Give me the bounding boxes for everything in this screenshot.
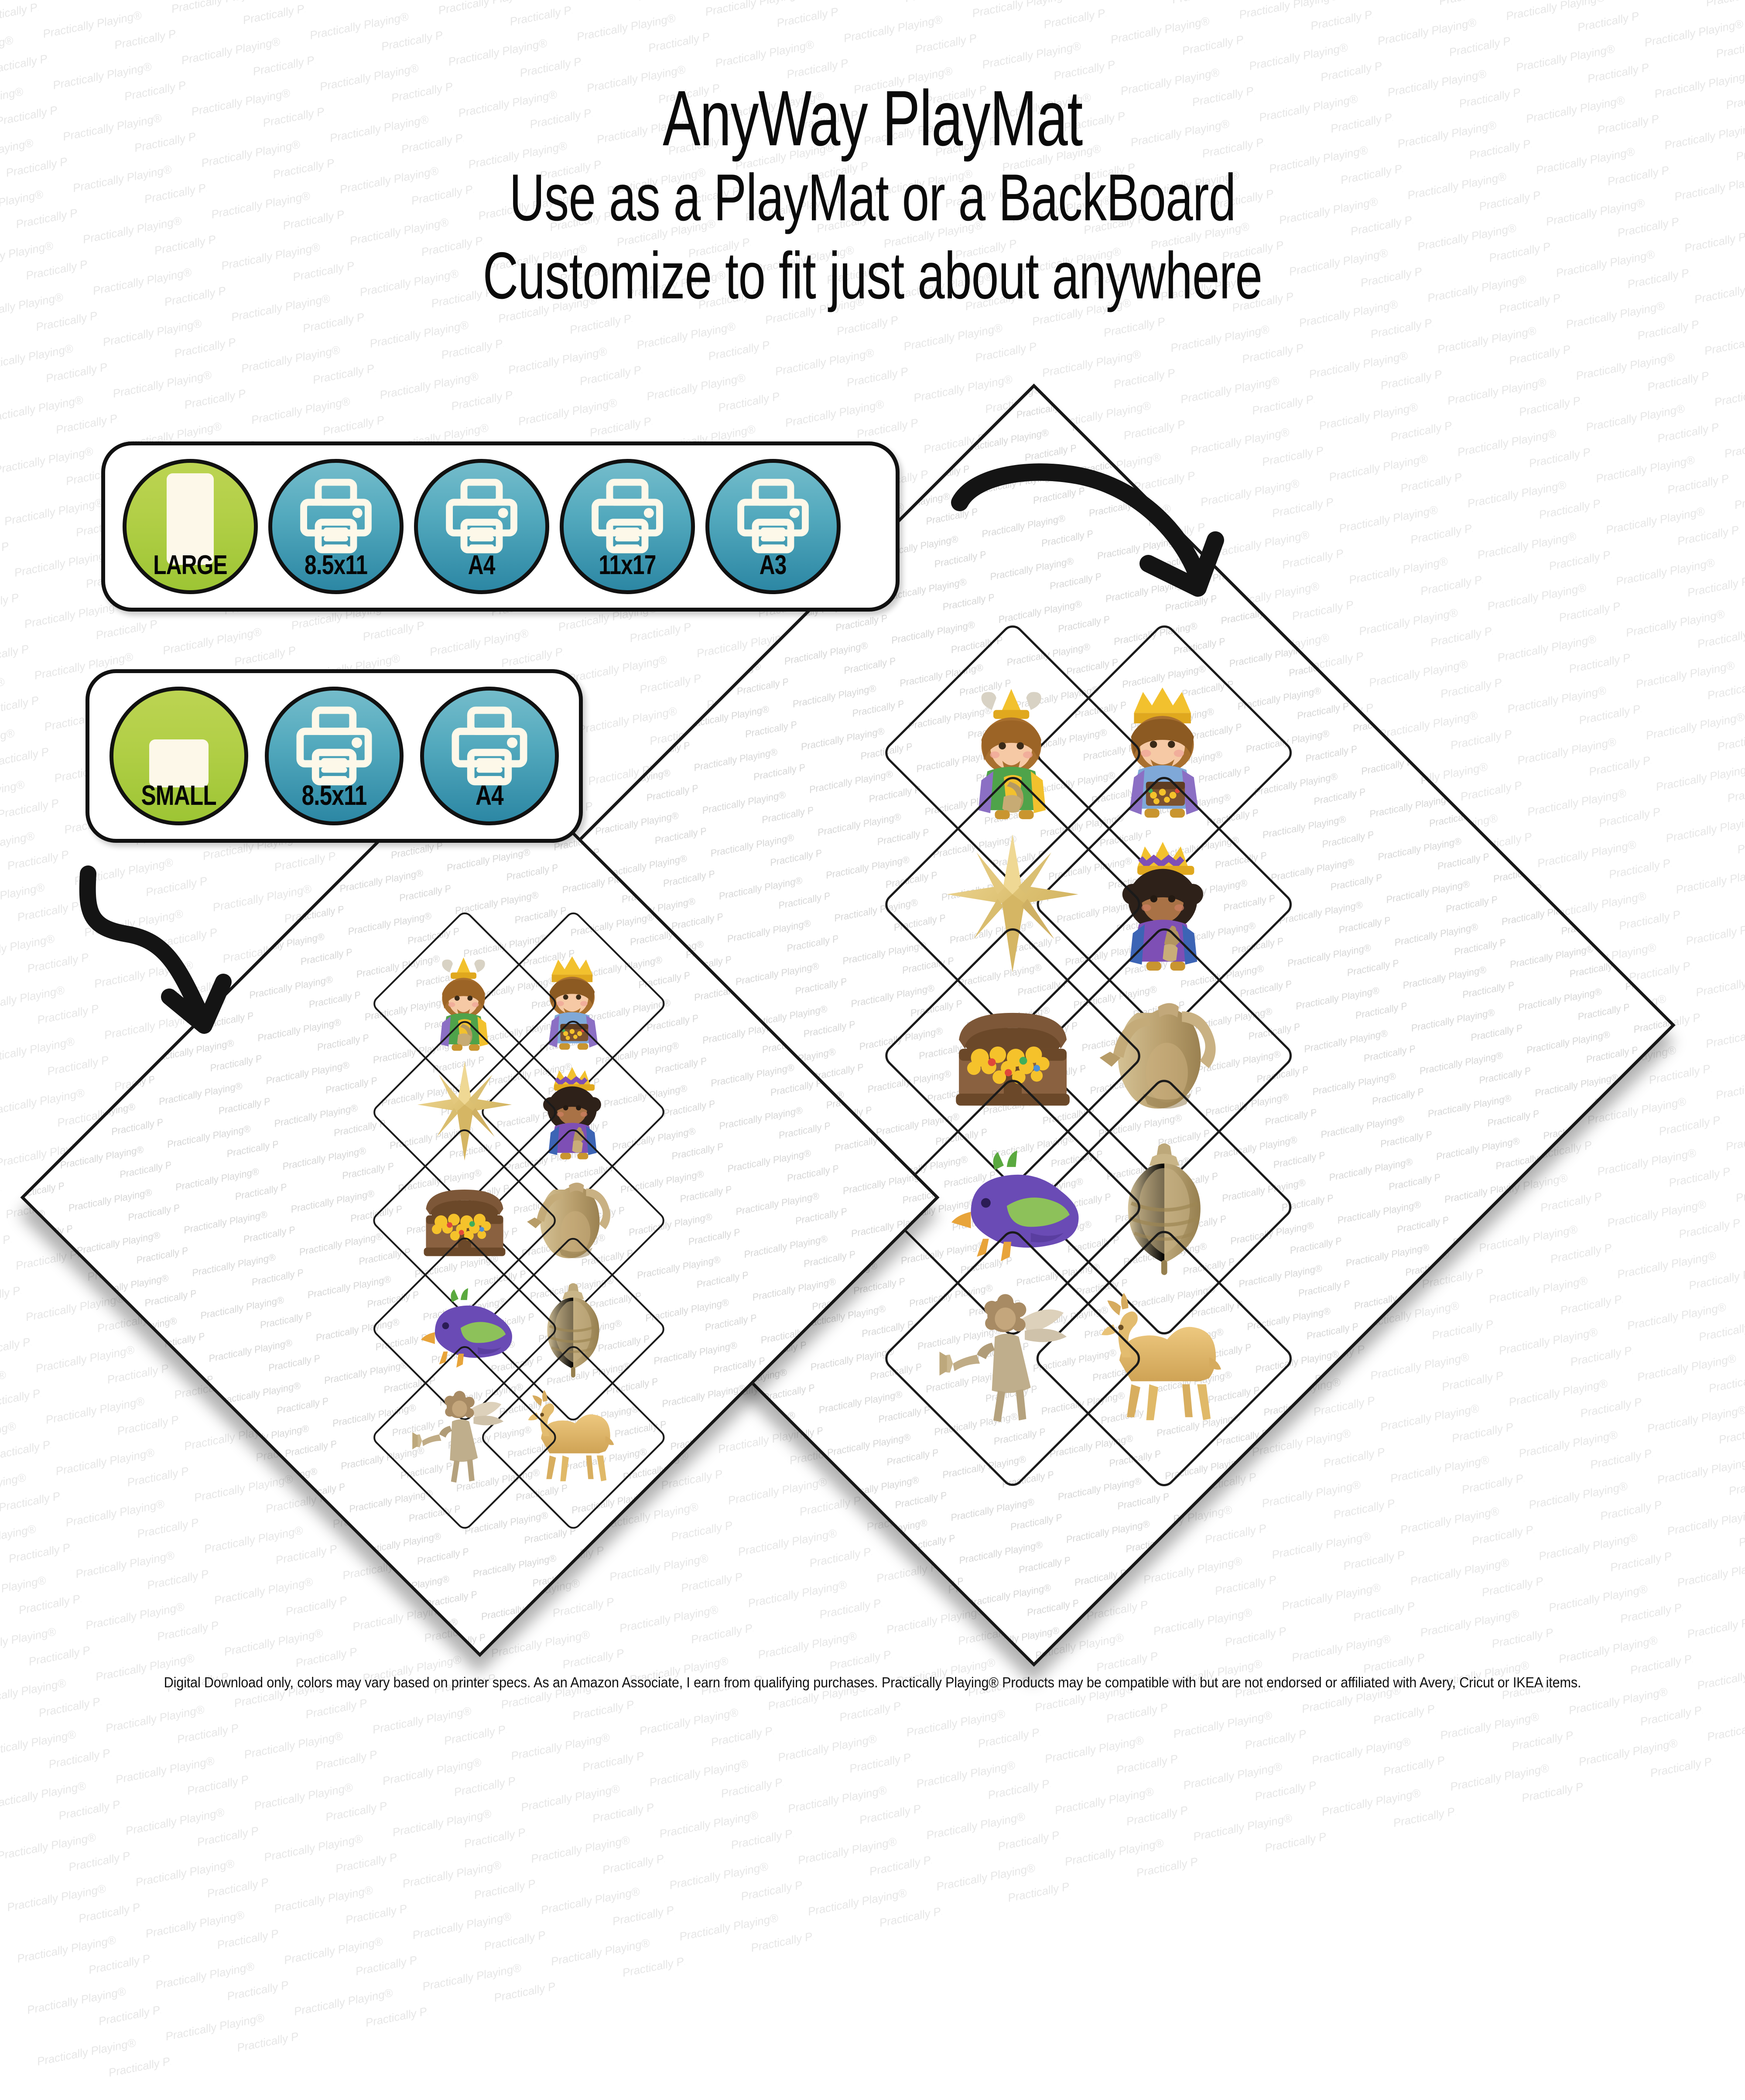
size-badge-large[interactable]: LARGE bbox=[123, 459, 258, 594]
printer-icon bbox=[294, 705, 375, 787]
size-badge-a3[interactable]: A3 bbox=[705, 459, 841, 594]
printer-icon bbox=[589, 478, 666, 557]
size-badge-8-5x11[interactable]: 8.5x11 bbox=[268, 459, 404, 594]
size-badge-label: A4 bbox=[468, 552, 495, 579]
printer-icon bbox=[298, 478, 374, 557]
printer-icon bbox=[735, 478, 811, 557]
size-panel-large: LARGE8.5x11A411x17A3 bbox=[101, 441, 900, 612]
page-header: AnyWay PlayMat Use as a PlayMat or a Bac… bbox=[0, 79, 1745, 315]
printer-icon bbox=[298, 478, 374, 554]
angel-icon bbox=[938, 1283, 1088, 1434]
printer-icon bbox=[589, 478, 666, 554]
size-panel-small: SMALL8.5x11A4 bbox=[86, 669, 583, 843]
angel-icon bbox=[411, 1383, 518, 1492]
arrow-to-small-playmat-icon bbox=[61, 862, 270, 1045]
size-badge-label: 8.5x11 bbox=[305, 552, 367, 579]
size-badge-a4[interactable]: A4 bbox=[414, 459, 549, 594]
printer-icon bbox=[449, 705, 530, 787]
size-badge-label: A3 bbox=[760, 552, 787, 579]
footer-disclaimer: Digital Download only, colors may vary b… bbox=[61, 1674, 1684, 1691]
size-badge-small[interactable]: SMALL bbox=[109, 687, 248, 825]
printer-icon bbox=[443, 478, 520, 554]
size-badge-a4[interactable]: A4 bbox=[420, 687, 559, 825]
subtitle-line-2: Customize to fit just about anywhere bbox=[227, 237, 1518, 315]
size-badge-11x17[interactable]: 11x17 bbox=[560, 459, 695, 594]
subtitle-line-1: Use as a PlayMat or a BackBoard bbox=[227, 159, 1518, 237]
size-badge-label: 8.5x11 bbox=[302, 781, 367, 809]
printer-icon bbox=[735, 478, 811, 554]
printer-icon bbox=[294, 705, 375, 789]
size-badge-label: LARGE bbox=[153, 552, 227, 579]
printer-icon bbox=[443, 478, 520, 557]
arrow-to-large-playmat-icon bbox=[947, 462, 1261, 637]
size-badge-8-5x11[interactable]: 8.5x11 bbox=[265, 687, 404, 825]
size-badge-label: 11x17 bbox=[599, 552, 656, 579]
page-title: AnyWay PlayMat bbox=[244, 79, 1501, 159]
size-badge-label: A4 bbox=[476, 781, 503, 809]
printer-icon bbox=[449, 705, 530, 789]
size-badge-label: SMALL bbox=[141, 781, 216, 809]
